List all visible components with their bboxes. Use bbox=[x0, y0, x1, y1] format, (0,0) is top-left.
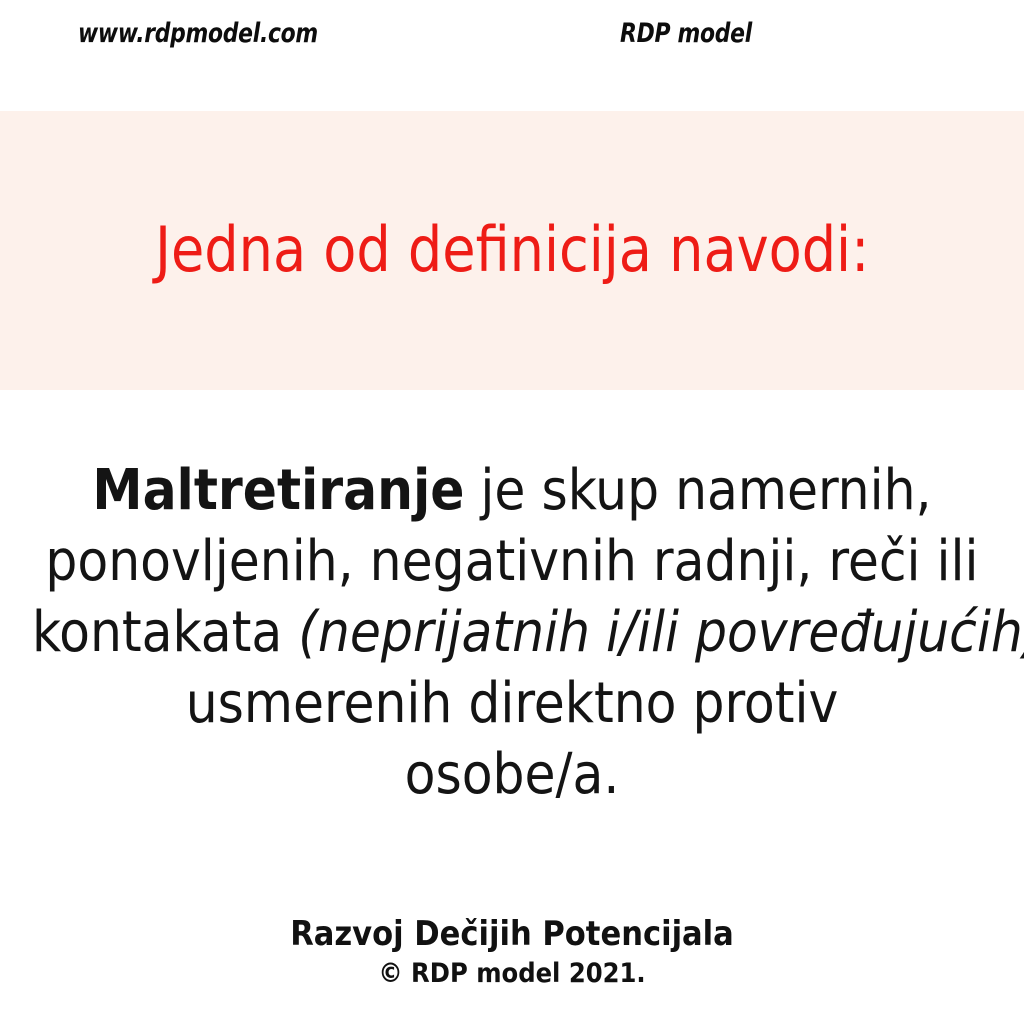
definition-text: kontakata bbox=[32, 600, 298, 665]
definition-line: Maltretiranje je skup namernih, bbox=[32, 455, 992, 526]
definition-line: osobe/a. bbox=[32, 739, 992, 810]
slide-root: www.rdpmodel.com RDP model Jedna od defi… bbox=[0, 0, 1024, 1024]
definition-line: usmerenih direktno protiv bbox=[32, 668, 992, 739]
footer-organization: Razvoj Dečijih Potencijala bbox=[0, 912, 1024, 956]
slide-footer: Razvoj Dečijih Potencijala © RDP model 2… bbox=[0, 912, 1024, 992]
title-band: Jedna od definicija navodi: bbox=[0, 111, 1024, 390]
definition-text: ponovljenih, negativnih radnji, reči ili bbox=[45, 529, 978, 594]
slide-header: www.rdpmodel.com RDP model bbox=[0, 0, 1024, 111]
page-title: Jedna od definicija navodi: bbox=[155, 216, 869, 284]
header-brand-label: RDP model bbox=[620, 18, 752, 49]
footer-copyright: © RDP model 2021. bbox=[0, 956, 1024, 992]
definition-line: kontakata (neprijatnih i/ili povređujući… bbox=[32, 597, 992, 668]
definition-text: osobe/a. bbox=[405, 742, 620, 807]
definition-term: Maltretiranje bbox=[92, 458, 464, 523]
definition-text: usmerenih direktno protiv bbox=[186, 671, 839, 736]
definition-text: je skup namernih, bbox=[464, 458, 931, 523]
header-site-url: www.rdpmodel.com bbox=[78, 18, 318, 49]
definition-line: ponovljenih, negativnih radnji, reči ili bbox=[32, 526, 992, 597]
definition-text-block: Maltretiranje je skup namernih, ponovlje… bbox=[32, 455, 992, 810]
definition-parenthetical: (neprijatnih i/ili povređujućih), bbox=[298, 600, 1024, 665]
